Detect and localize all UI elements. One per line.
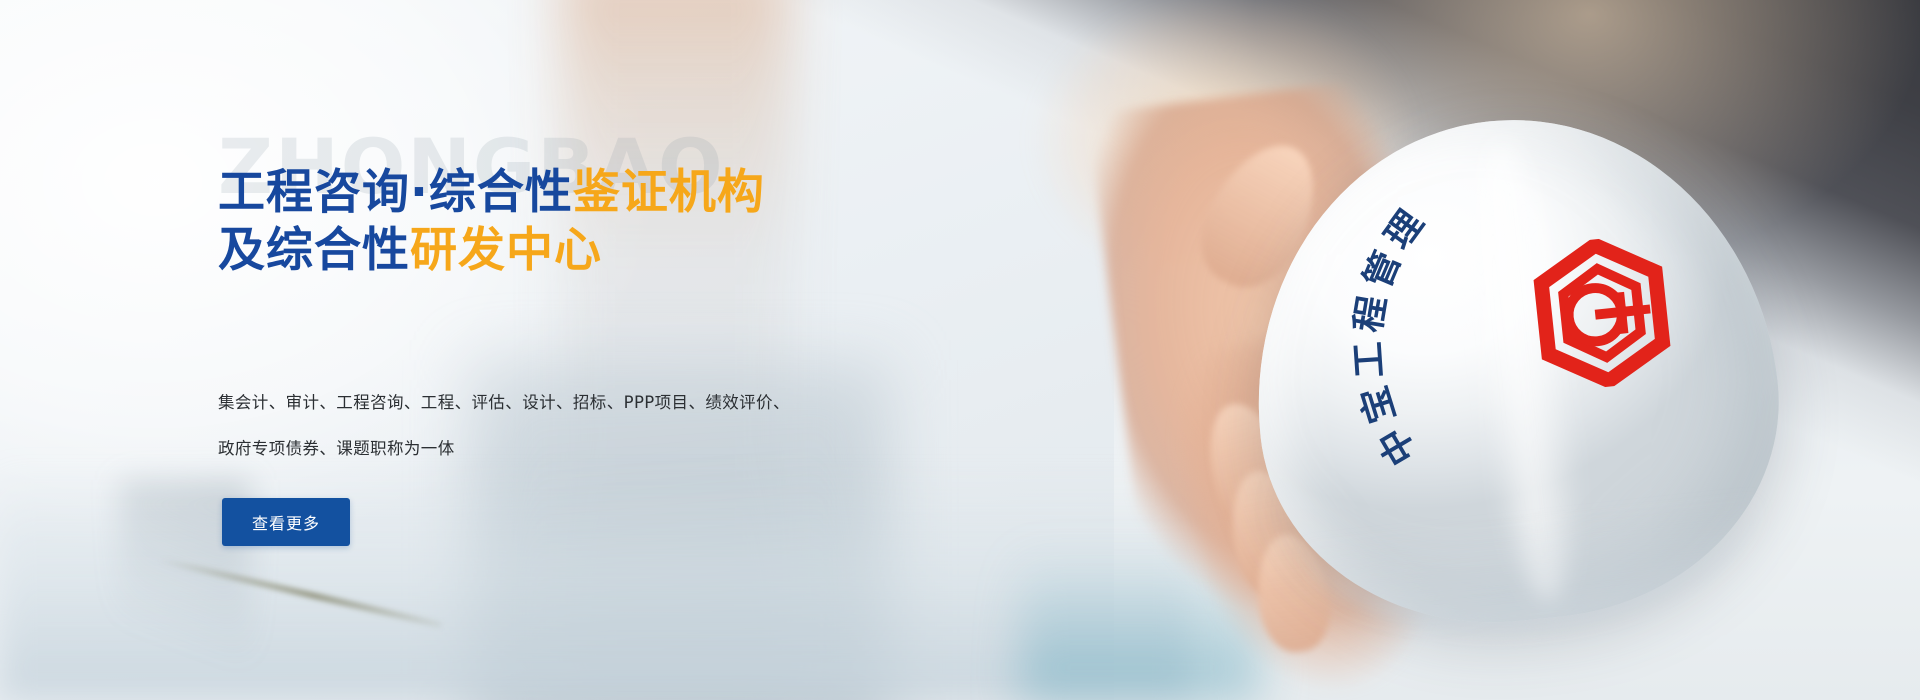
headline-line-1: 工程咨询·综合性鉴证机构 [218,164,938,222]
page-title: 工程咨询·综合性鉴证机构 及综合性研发中心 [218,164,938,280]
description-line-1: 集会计、审计、工程咨询、工程、评估、设计、招标、PPP项目、绩效评价、 [218,380,818,426]
hero-description: 集会计、审计、工程咨询、工程、评估、设计、招标、PPP项目、绩效评价、 政府专项… [218,380,818,472]
headline-line-1-blue: 工程咨询·综合性 [218,165,573,220]
zhongbao-hexagon-logo [1520,232,1685,395]
hero-banner: 中宝工程管理 ZHONGBAO 工程咨询·综合性鉴证机构 及综合性研发中心 [0,0,1920,700]
view-more-button[interactable]: 查看更多 [222,498,350,546]
headline-line-2: 及综合性研发中心 [218,222,938,280]
headline-line-1-orange: 鉴证机构 [573,165,765,220]
description-line-2: 政府专项债券、课题职称为一体 [218,426,818,472]
headline-line-2-orange: 研发中心 [410,223,602,278]
hero-content: ZHONGBAO 工程咨询·综合性鉴证机构 及综合性研发中心 集会计、审计、工程… [218,0,938,700]
headline-line-2-blue: 及综合性 [218,223,410,278]
